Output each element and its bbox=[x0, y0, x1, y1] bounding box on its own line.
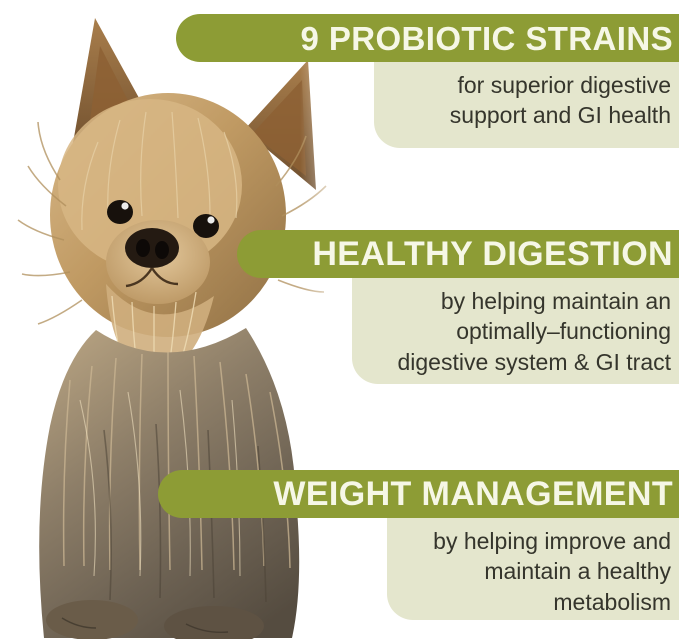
dog-photo bbox=[0, 0, 360, 639]
benefit-description-digestion: by helping maintain an optimally–functio… bbox=[387, 278, 679, 377]
infographic-root: 9 PROBIOTIC STRAINS for superior digesti… bbox=[0, 0, 679, 639]
benefit-headline-weight: WEIGHT MANAGEMENT bbox=[158, 477, 679, 511]
benefit-banner-digestion: HEALTHY DIGESTION bbox=[237, 230, 679, 278]
benefit-panel-weight: by helping improve and maintain a health… bbox=[387, 518, 679, 620]
benefit-description-weight: by helping improve and maintain a health… bbox=[423, 518, 679, 617]
benefit-banner-weight: WEIGHT MANAGEMENT bbox=[158, 470, 679, 518]
benefit-panel-digestion: by helping maintain an optimally–functio… bbox=[352, 278, 679, 384]
benefit-description-strains: for superior digestive support and GI he… bbox=[440, 62, 679, 131]
benefit-headline-digestion: HEALTHY DIGESTION bbox=[237, 237, 679, 271]
benefit-headline-strains: 9 PROBIOTIC STRAINS bbox=[176, 22, 679, 55]
benefit-banner-strains: 9 PROBIOTIC STRAINS bbox=[176, 14, 679, 62]
benefit-panel-strains: for superior digestive support and GI he… bbox=[374, 62, 679, 148]
